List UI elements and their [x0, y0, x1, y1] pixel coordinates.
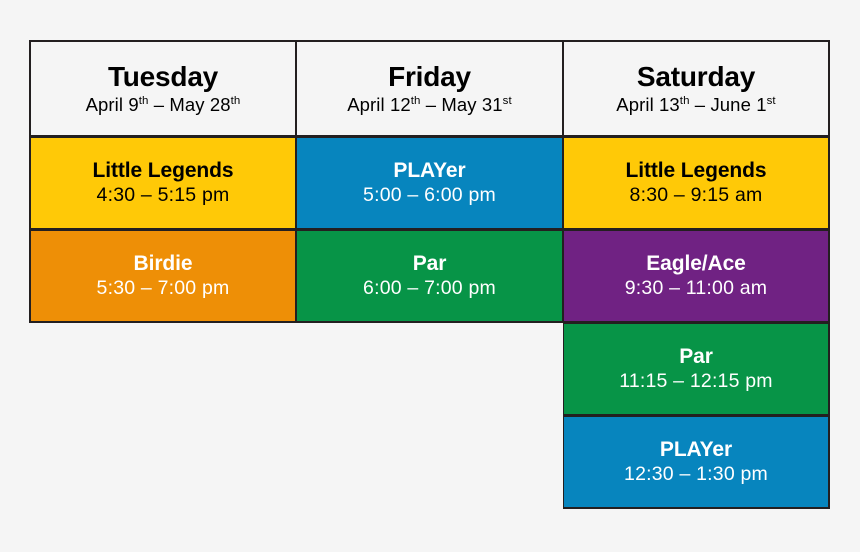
schedule-table: TuesdayApril 9th – May 28thLittle Legend…	[29, 40, 831, 509]
session-name: Par	[679, 345, 713, 368]
day-column: SaturdayApril 13th – June 1stLittle Lege…	[563, 40, 830, 509]
day-header-cell: TuesdayApril 9th – May 28th	[29, 40, 296, 137]
session-time: 5:00 – 6:00 pm	[363, 184, 496, 206]
day-name: Friday	[388, 62, 471, 91]
date-range-end: May 28	[169, 94, 230, 115]
date-range-dash: –	[148, 94, 169, 115]
day-column: TuesdayApril 9th – May 28thLittle Legend…	[29, 40, 296, 323]
date-range-end: June 1	[710, 94, 766, 115]
session-cell[interactable]: PLAYer12:30 – 1:30 pm	[563, 416, 830, 509]
session-time: 5:30 – 7:00 pm	[97, 277, 230, 299]
session-time: 8:30 – 9:15 am	[630, 184, 763, 206]
session-cell[interactable]: Par6:00 – 7:00 pm	[296, 230, 563, 323]
day-header-cell: SaturdayApril 13th – June 1st	[563, 40, 830, 137]
day-header-cell: FridayApril 12th – May 31st	[296, 40, 563, 137]
session-name: Eagle/Ace	[646, 252, 746, 275]
day-column: FridayApril 12th – May 31stPLAYer5:00 – …	[296, 40, 563, 323]
date-range-dash: –	[690, 94, 711, 115]
date-range-start: April 12	[347, 94, 411, 115]
session-cell[interactable]: PLAYer5:00 – 6:00 pm	[296, 137, 563, 230]
session-name: PLAYer	[660, 438, 732, 461]
session-name: Little Legends	[93, 159, 234, 182]
session-cell[interactable]: Little Legends4:30 – 5:15 pm	[29, 137, 296, 230]
day-date-range: April 9th – May 28th	[86, 95, 241, 115]
session-time: 11:15 – 12:15 pm	[619, 370, 773, 392]
day-date-range: April 13th – June 1st	[616, 95, 775, 115]
day-date-range: April 12th – May 31st	[347, 95, 512, 115]
session-name: PLAYer	[393, 159, 465, 182]
date-range-start: April 13	[616, 94, 680, 115]
day-name: Tuesday	[108, 62, 218, 91]
date-range-dash: –	[421, 94, 442, 115]
date-range-start: April 9	[86, 94, 139, 115]
date-range-end-ordinal: th	[231, 94, 241, 106]
session-time: 4:30 – 5:15 pm	[97, 184, 230, 206]
session-name: Par	[413, 252, 447, 275]
session-cell[interactable]: Par11:15 – 12:15 pm	[563, 323, 830, 416]
session-time: 9:30 – 11:00 am	[625, 277, 768, 299]
date-range-start-ordinal: th	[411, 94, 421, 106]
session-cell[interactable]: Birdie5:30 – 7:00 pm	[29, 230, 296, 323]
session-cell[interactable]: Eagle/Ace9:30 – 11:00 am	[563, 230, 830, 323]
session-name: Little Legends	[626, 159, 767, 182]
session-name: Birdie	[134, 252, 193, 275]
day-name: Saturday	[637, 62, 755, 91]
session-time: 6:00 – 7:00 pm	[363, 277, 496, 299]
session-time: 12:30 – 1:30 pm	[624, 463, 768, 485]
date-range-end: May 31	[441, 94, 502, 115]
session-cell[interactable]: Little Legends8:30 – 9:15 am	[563, 137, 830, 230]
date-range-end-ordinal: st	[767, 94, 776, 106]
date-range-start-ordinal: th	[680, 94, 690, 106]
date-range-end-ordinal: st	[503, 94, 512, 106]
